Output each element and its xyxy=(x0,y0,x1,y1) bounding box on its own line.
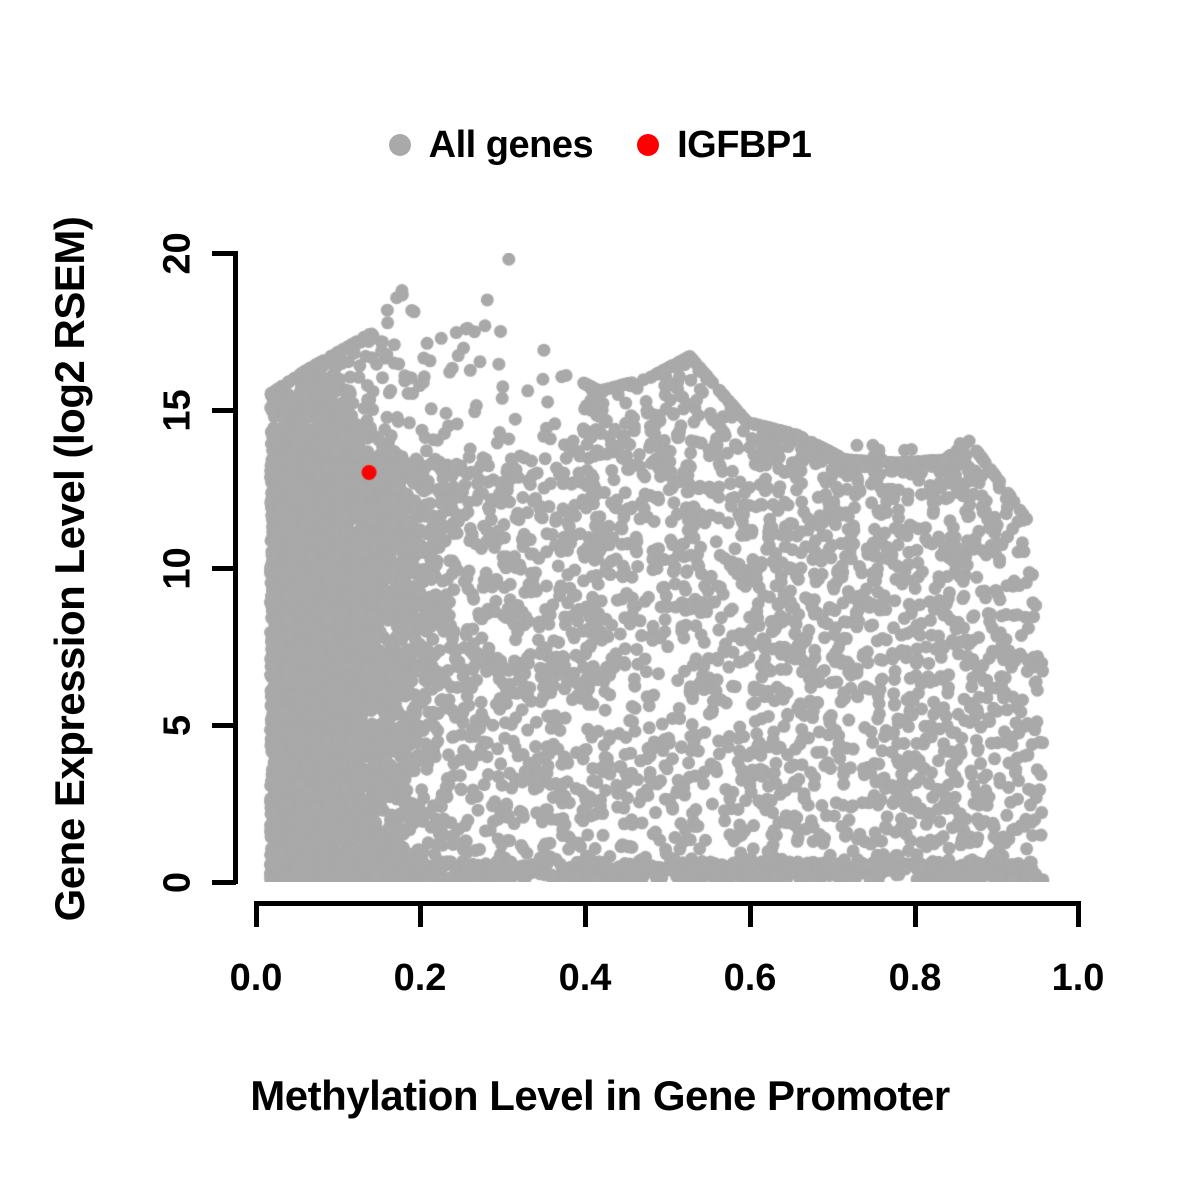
x-tick-mark-0.2 xyxy=(418,901,423,927)
y-tick-mark-5 xyxy=(212,723,236,728)
x-tick-mark-0.0 xyxy=(254,901,259,927)
legend-label-igfbp1: IGFBP1 xyxy=(677,124,811,167)
x-tick-mark-0.4 xyxy=(583,901,588,927)
x-tick-label-0.0: 0.0 xyxy=(196,957,316,1000)
y-axis-title: Gene Expression Level (log2 RSEM) xyxy=(46,119,94,1019)
x-tick-label-0.6: 0.6 xyxy=(690,957,810,1000)
y-tick-mark-10 xyxy=(212,566,236,571)
legend-entry-all-genes: All genes xyxy=(389,124,593,167)
legend-entry-igfbp1: IGFBP1 xyxy=(637,124,811,167)
y-tick-label-20: 20 xyxy=(157,224,200,284)
plot-area xyxy=(236,253,1096,882)
x-axis-title: Methylation Level in Gene Promoter xyxy=(0,1072,1200,1120)
x-tick-mark-1.0 xyxy=(1076,901,1081,927)
x-tick-label-0.2: 0.2 xyxy=(360,957,480,1000)
legend-marker-circle-gray xyxy=(389,134,411,156)
scatter-points-canvas xyxy=(236,253,1096,882)
y-tick-label-0: 0 xyxy=(157,853,200,913)
y-tick-label-10: 10 xyxy=(157,539,200,599)
x-tick-mark-0.8 xyxy=(913,901,918,927)
x-tick-label-0.8: 0.8 xyxy=(855,957,975,1000)
y-tick-mark-0 xyxy=(212,880,236,885)
x-tick-label-0.4: 0.4 xyxy=(525,957,645,1000)
x-tick-label-1.0: 1.0 xyxy=(1018,957,1138,1000)
y-tick-mark-15 xyxy=(212,408,236,413)
x-tick-mark-0.6 xyxy=(748,901,753,927)
y-tick-label-15: 15 xyxy=(157,381,200,441)
chart-legend: All genes IGFBP1 xyxy=(0,110,1200,180)
scatter-plot-figure: All genes IGFBP1 20 15 10 5 0 0.0 0.2 0.… xyxy=(0,0,1200,1200)
x-axis-line xyxy=(254,901,1079,906)
legend-marker-circle-red xyxy=(637,134,659,156)
legend-label-all-genes: All genes xyxy=(429,124,593,167)
y-tick-label-5: 5 xyxy=(157,696,200,756)
y-tick-mark-20 xyxy=(212,251,236,256)
